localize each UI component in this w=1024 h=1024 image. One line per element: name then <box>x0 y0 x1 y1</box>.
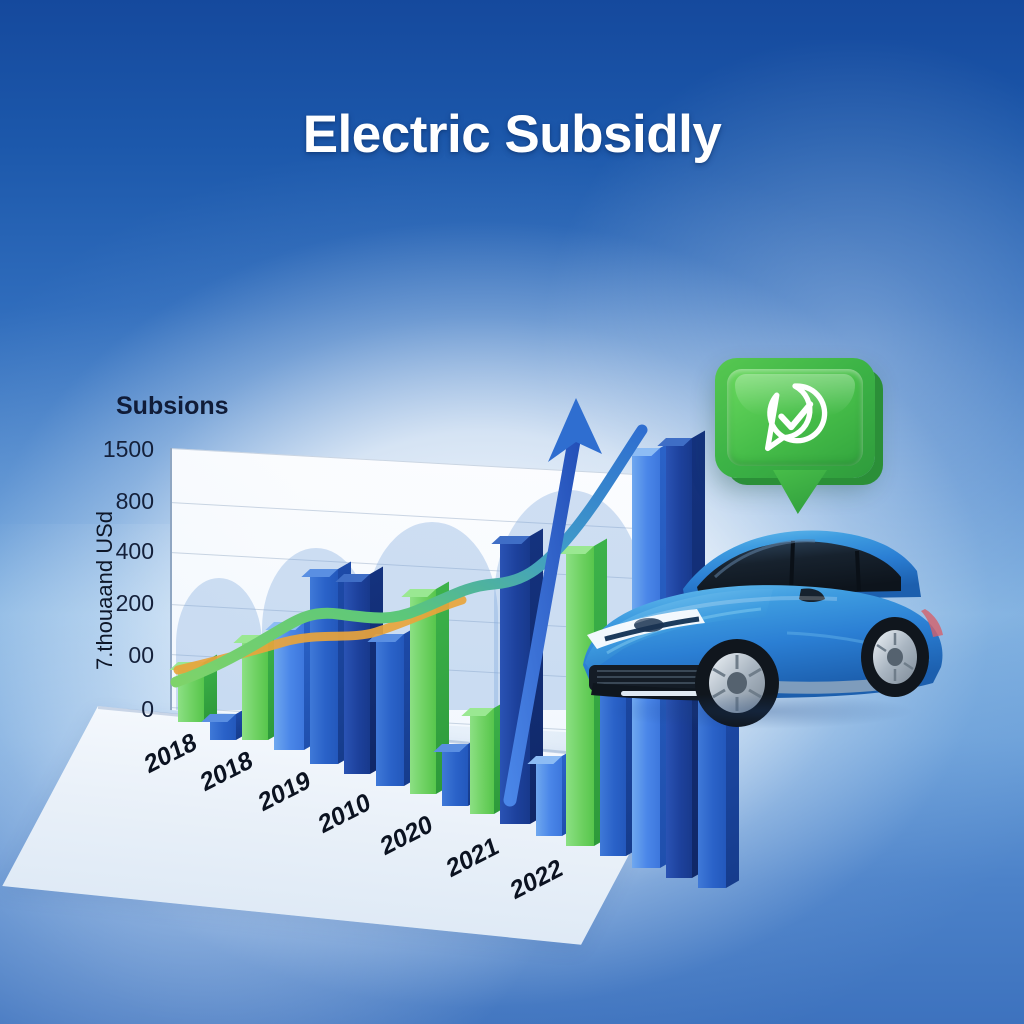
series-label: Subsions <box>116 392 229 421</box>
y-tick-200: 200 <box>82 590 154 617</box>
car-shadow <box>605 693 915 729</box>
y-tick-400: 400 <box>82 538 154 565</box>
check-circle-chat-icon <box>757 380 833 456</box>
page-title: Electric Subsidly <box>0 104 1024 165</box>
electric-vehicle <box>565 505 955 740</box>
y-tick-00: 00 <box>82 642 154 669</box>
y-tick-800: 800 <box>82 488 154 515</box>
y-tick-0: 0 <box>82 696 154 723</box>
verified-chat-badge[interactable] <box>715 358 890 508</box>
y-tick-1500: 1500 <box>82 436 154 463</box>
poster-canvas: Electric Subsidly <box>0 0 1024 1024</box>
